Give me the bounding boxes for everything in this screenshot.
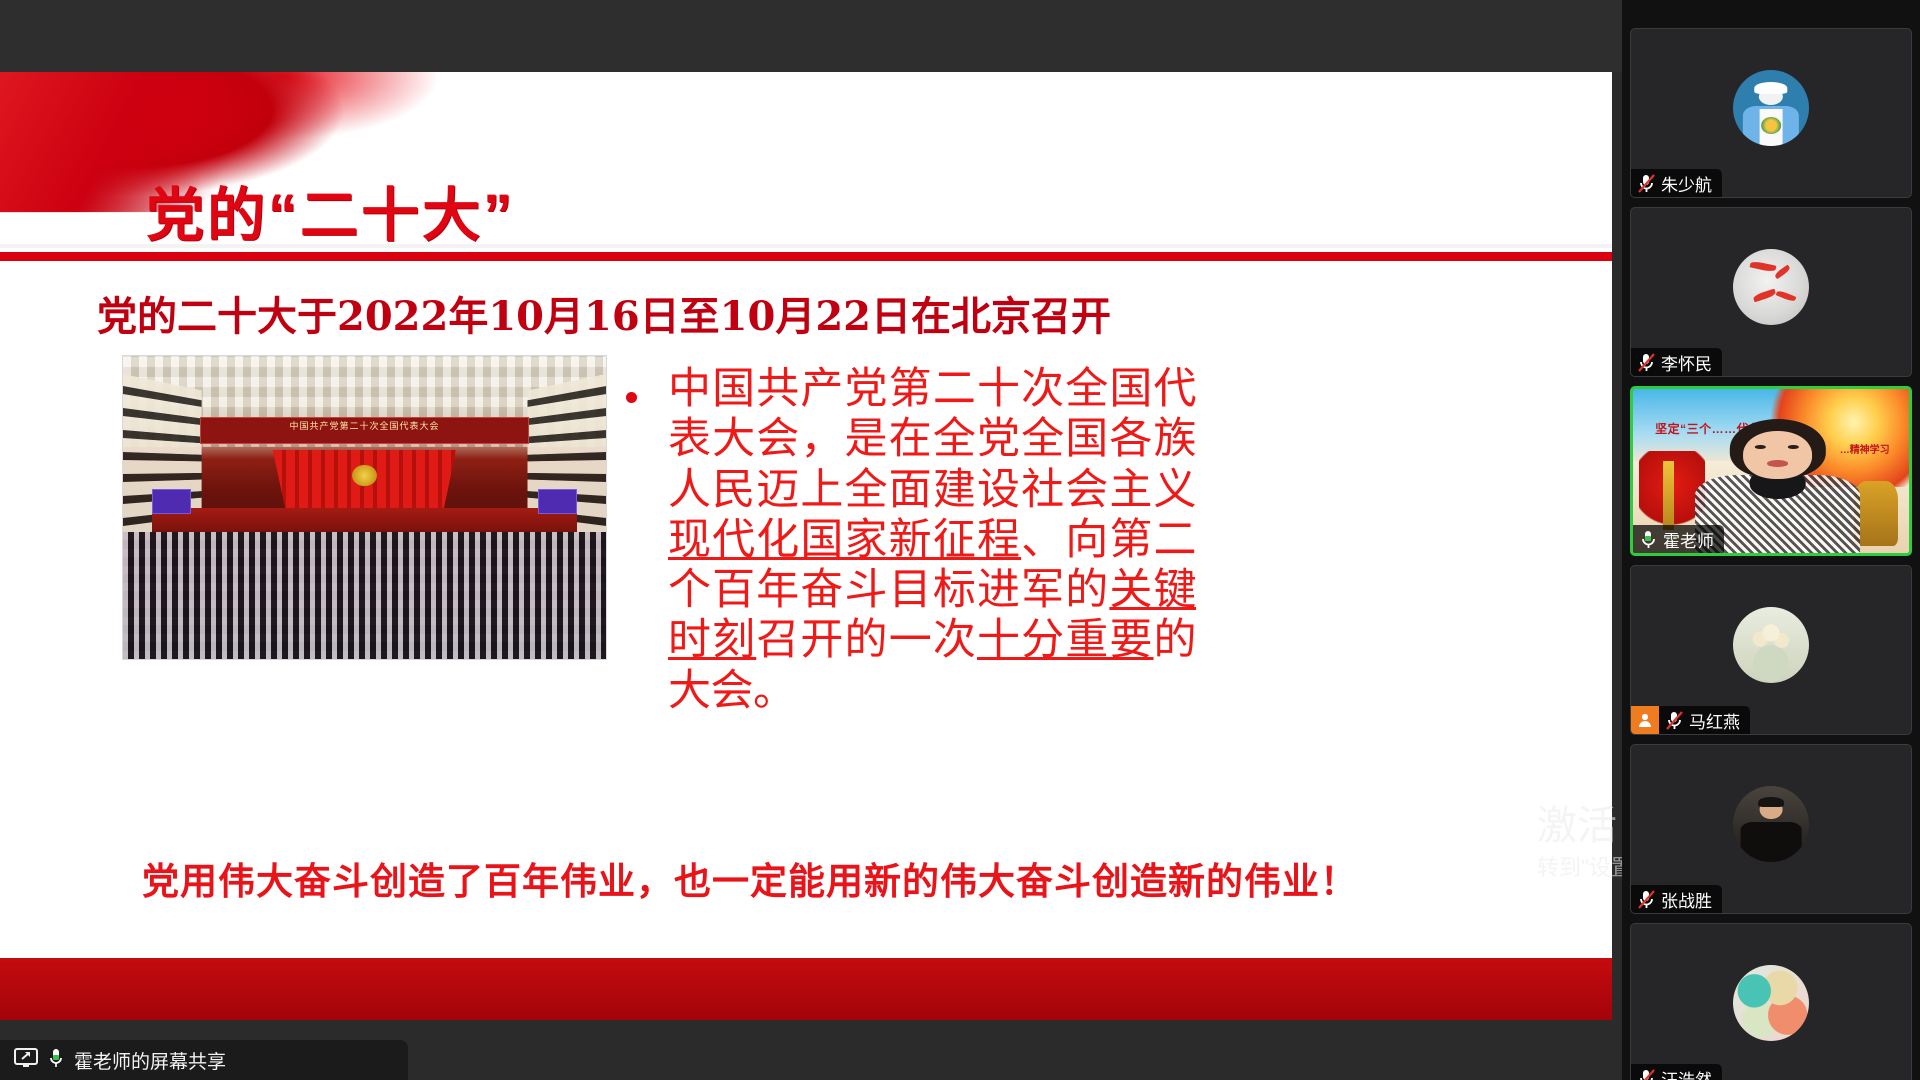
microphone-muted-icon <box>1637 352 1656 373</box>
body-segment-4: 召开的一次 <box>756 616 977 664</box>
share-bar-label: 霍老师的屏幕共享 <box>74 1047 226 1074</box>
participant-tile-朱少航[interactable]: 朱少航 <box>1630 28 1912 198</box>
body-segment-5: 十分重要 <box>977 616 1154 664</box>
congress-hall-photo: 中国共产党第二十次全国代表大会 <box>122 355 607 660</box>
mic-status[interactable] <box>1631 173 1661 194</box>
participant-name: 张战胜 <box>1661 887 1712 912</box>
host-badge <box>1631 706 1659 734</box>
share-top-strip <box>0 0 1622 72</box>
participant-name-bar: 汪浩然 <box>1631 1064 1722 1080</box>
avatar <box>1733 607 1809 683</box>
mic-status[interactable] <box>1631 1068 1661 1080</box>
globe-avatar <box>1733 965 1809 1041</box>
avatar <box>1733 965 1809 1041</box>
avatar <box>1733 70 1809 146</box>
microphone-muted-icon <box>1637 1068 1656 1080</box>
participants-rail[interactable]: 朱少航李怀民坚定“三个……代华章…精神学习霍老师马红燕张战胜汪浩然 <box>1622 0 1920 1080</box>
avatar <box>1733 786 1809 862</box>
photo-banner-caption: 中国共产党第二十次全国代表大会 <box>200 417 528 444</box>
person-avatar <box>1733 70 1809 146</box>
slide-body-text: 中国共产党第二十次全国代表大会，是在全党全国各族人民迈上全面建设社会主义现代化国… <box>668 364 1196 716</box>
participant-tile-马红燕[interactable]: 马红燕 <box>1630 565 1912 735</box>
mic-status[interactable] <box>1633 529 1663 550</box>
shared-screen-area[interactable]: 党的“二十大” 党的二十大于2022年10月16日至10月22日在北京召开 中国… <box>0 0 1622 1080</box>
participant-name: 李怀民 <box>1661 350 1712 375</box>
photo-banner-text: 中国共产党第二十次全国代表大会 <box>201 418 527 435</box>
participant-name-bar: 朱少航 <box>1631 169 1722 197</box>
flowers-avatar <box>1733 607 1809 683</box>
microphone-muted-icon <box>1665 710 1684 731</box>
presentation-slide: 党的“二十大” 党的二十大于2022年10月16日至10月22日在北京召开 中国… <box>0 72 1612 1020</box>
fishbowl-avatar <box>1733 249 1809 325</box>
zoom-meeting-window: 党的“二十大” 党的二十大于2022年10月16日至10月22日在北京召开 中国… <box>0 0 1920 1080</box>
bullet-dot <box>626 392 637 403</box>
participant-name-bar: 霍老师 <box>1633 525 1724 553</box>
header-divider-red <box>0 252 1612 261</box>
microphone-icon <box>1639 529 1658 550</box>
participant-name-bar: 马红燕 <box>1631 706 1750 734</box>
participant-tile-张战胜[interactable]: 张战胜 <box>1630 744 1912 914</box>
participant-name: 朱少航 <box>1661 171 1712 196</box>
screen-share-status-bar[interactable]: 霍老师的屏幕共享 <box>0 1040 408 1080</box>
microphone-muted-icon <box>1637 173 1656 194</box>
microphone-muted-icon <box>1637 889 1656 910</box>
avatar <box>1733 249 1809 325</box>
participant-tile-霍老师[interactable]: 坚定“三个……代华章…精神学习霍老师 <box>1630 386 1912 556</box>
participant-tile-李怀民[interactable]: 李怀民 <box>1630 207 1912 377</box>
participant-name: 汪浩然 <box>1661 1066 1712 1080</box>
participant-tile-汪浩然[interactable]: 汪浩然 <box>1630 923 1912 1080</box>
slide-subtitle: 党的二十大于2022年10月16日至10月22日在北京召开 <box>97 284 1111 342</box>
participant-name: 马红燕 <box>1689 708 1740 733</box>
body-segment-0: 中国共产党第二十次全国代表大会，是在全党全国各族人民迈上全面建设社会主义 <box>668 365 1196 514</box>
microphone-icon <box>48 1047 64 1074</box>
participant-name: 霍老师 <box>1663 527 1714 552</box>
slide-body-bullet: 中国共产党第二十次全国代表大会，是在全党全国各族人民迈上全面建设社会主义现代化国… <box>626 364 1196 716</box>
mic-status[interactable] <box>1631 889 1661 910</box>
person-icon <box>1637 712 1653 728</box>
body-segment-1: 现代化国家新征程 <box>668 516 1021 564</box>
bottom-wave-dark-red <box>0 958 1612 1020</box>
slide-title: 党的“二十大” <box>146 168 515 252</box>
man-avatar <box>1733 786 1809 862</box>
screen-share-icon <box>14 1048 38 1073</box>
participant-name-bar: 李怀民 <box>1631 348 1722 376</box>
mic-status[interactable] <box>1659 710 1689 731</box>
mic-status[interactable] <box>1631 352 1661 373</box>
participant-name-bar: 张战胜 <box>1631 885 1722 913</box>
